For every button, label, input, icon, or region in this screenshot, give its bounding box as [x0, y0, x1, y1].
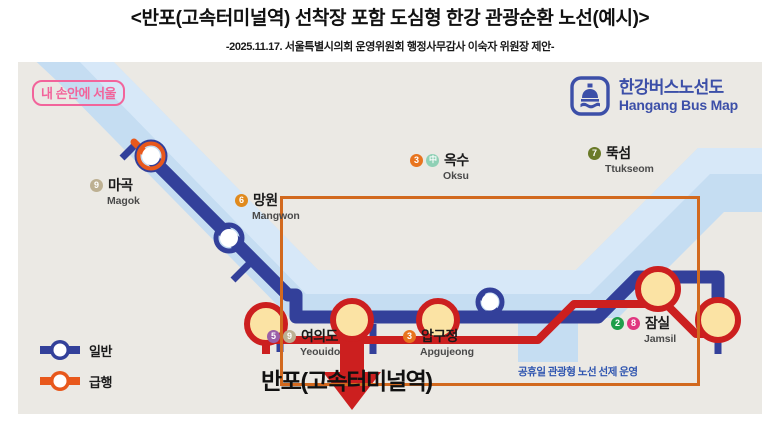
line-badge-3: 3 — [410, 154, 423, 167]
legend-item-regular: 일반 — [40, 339, 112, 361]
station-label-oksu-row: 3 中 옥수 — [410, 150, 469, 170]
line-badge-6: 6 — [235, 194, 248, 207]
station-name-kr: 압구정 — [421, 326, 458, 346]
logo-title-kr: 한강버스노선도 — [619, 79, 738, 97]
station-name-en: Mangwon — [252, 210, 300, 222]
station-label-ttukseom: 7 뚝섬 Ttukseom — [588, 143, 654, 175]
station-marker-ttukseom[interactable] — [638, 269, 678, 309]
station-name-kr: 뚝섬 — [606, 143, 631, 163]
line-badge-9: 9 — [90, 179, 103, 192]
station-name-kr: 잠실 — [645, 313, 670, 333]
express-station-icon — [40, 370, 80, 392]
hangang-bus-map-logo: 한강버스노선도 Hangang Bus Map — [570, 76, 738, 116]
boat-icon — [570, 76, 610, 116]
station-name-en: Ttukseom — [605, 163, 654, 175]
station-label-jamsil-row: 2 8 잠실 — [611, 313, 676, 333]
station-name-kr: 옥수 — [444, 150, 469, 170]
station-name-kr: 망원 — [253, 190, 278, 210]
legend-item-express: 급행 — [40, 370, 112, 392]
line-badge-5: 5 — [267, 330, 280, 343]
station-name-en: Yeouido — [300, 346, 340, 358]
page-subtitle: -2025.11.17. 서울특별시의회 운영위원회 행정사무감사 이숙자 위원… — [0, 38, 780, 54]
station-marker-jamsil[interactable] — [698, 300, 738, 340]
seoul-brand-mark: 내 손안에 서울 — [32, 80, 125, 106]
station-label-apgujeong: 3 압구정 Apgujeong — [403, 326, 474, 358]
logo-text-block: 한강버스노선도 Hangang Bus Map — [619, 79, 738, 112]
legend-label-express: 급행 — [89, 372, 112, 391]
station-label-ttukseom-row: 7 뚝섬 — [588, 143, 654, 163]
station-label-jamsil: 2 8 잠실 Jamsil — [611, 313, 676, 345]
page-title: <반포(고속터미널역) 선착장 포함 도심형 한강 관광순환 노선(예시)> — [0, 8, 780, 31]
station-label-apgujeong-row: 3 압구정 — [403, 326, 474, 346]
station-label-mangwon-row: 6 망원 — [235, 190, 300, 210]
station-label-magok-row: 9 마곡 — [90, 175, 140, 195]
station-name-en: Jamsil — [644, 333, 676, 345]
regular-station-icon — [40, 339, 80, 361]
station-label-oksu: 3 中 옥수 Oksu — [410, 150, 469, 182]
station-name-kr: 여의도 — [301, 326, 338, 346]
station-label-yeouido-row: 5 9 여의도 — [267, 326, 340, 346]
banpo-callout-label: 반포(고속터미널역) — [261, 362, 432, 396]
line-badge-3: 3 — [403, 330, 416, 343]
holiday-route-footnote: 공휴일 관광형 노선 선제 운영 — [518, 364, 638, 379]
station-label-magok: 9 마곡 Magok — [90, 175, 140, 207]
logo-title-en: Hangang Bus Map — [619, 98, 738, 113]
map-canvas: 내 손안에 서울 한강버스노선도 Hangang Bus Map 9 마곡 — [18, 62, 762, 414]
transit-map-page: <반포(고속터미널역) 선착장 포함 도심형 한강 관광순환 노선(예시)> -… — [0, 0, 780, 428]
line-badge-8: 8 — [627, 317, 640, 330]
station-label-yeouido: 5 9 여의도 Yeouido — [267, 326, 340, 358]
station-name-kr: 마곡 — [108, 175, 133, 195]
station-name-en: Apgujeong — [420, 346, 474, 358]
station-marker-oksu[interactable] — [478, 290, 502, 314]
station-name-en: Oksu — [443, 170, 469, 182]
line-badge-2: 2 — [611, 317, 624, 330]
map-legend: 일반 급행 — [40, 339, 112, 392]
title-block: <반포(고속터미널역) 선착장 포함 도심형 한강 관광순환 노선(예시)> -… — [0, 8, 780, 54]
line-badge-9: 9 — [283, 330, 296, 343]
station-name-en: Magok — [107, 195, 140, 207]
line-badge-7: 7 — [588, 147, 601, 160]
station-label-mangwon: 6 망원 Mangwon — [235, 190, 300, 222]
legend-label-regular: 일반 — [89, 341, 112, 360]
line-badge-jungang: 中 — [426, 154, 439, 167]
